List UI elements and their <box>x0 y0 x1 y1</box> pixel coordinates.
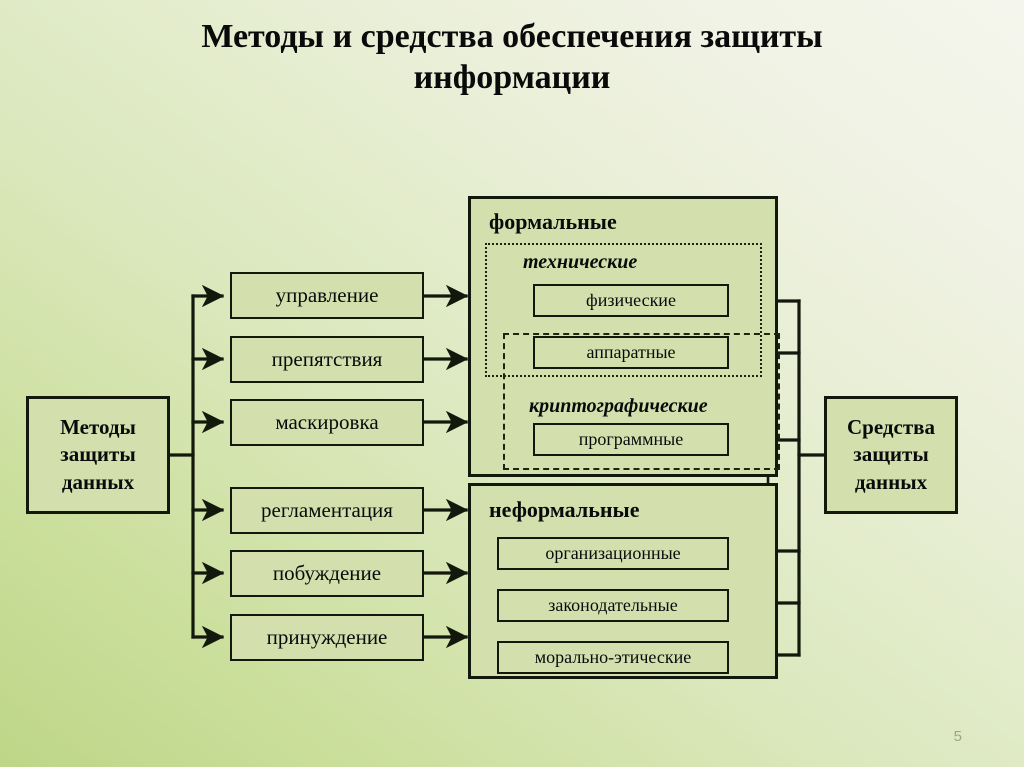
root-node-line-2: защиты <box>60 441 135 468</box>
method-box-prepyatstviya[interactable]: препятствия <box>230 336 424 383</box>
method-label: побуждение <box>273 561 381 586</box>
leaf-box-apparatnye[interactable]: аппаратные <box>533 336 729 369</box>
method-box-pobuzhdenie[interactable]: побуждение <box>230 550 424 597</box>
leaf-label: физические <box>586 290 676 311</box>
root-node-methods[interactable]: Методы защиты данных <box>26 396 170 514</box>
page-number: 5 <box>954 728 962 745</box>
method-label: принуждение <box>267 625 388 650</box>
method-label: препятствия <box>272 347 383 372</box>
root-node-line-3: данных <box>855 469 927 496</box>
method-box-reglamentaciya[interactable]: регламентация <box>230 487 424 534</box>
group-informal-title: неформальные <box>489 497 639 523</box>
leaf-box-zakonodatelnye[interactable]: законодательные <box>497 589 729 622</box>
subgroup-technical-title: технические <box>523 251 637 274</box>
page-title-line-1: Методы и средства обеспечения защиты <box>40 16 984 57</box>
page-title-line-2: информации <box>40 57 984 98</box>
leaf-label: аппаратные <box>586 342 675 363</box>
leaf-label: организационные <box>545 543 680 564</box>
subgroup-cryptographic-title: криптографические <box>529 395 708 418</box>
group-informal[interactable]: неформальные организационные законодател… <box>468 483 778 679</box>
method-label: управление <box>276 283 379 308</box>
group-formal-title: формальные <box>489 209 617 235</box>
page-title: Методы и средства обеспечения защиты инф… <box>40 16 984 99</box>
method-label: маскировка <box>275 410 378 435</box>
root-node-line-2: защиты <box>853 441 928 468</box>
leaf-box-moralno-eticheskie[interactable]: морально-этические <box>497 641 729 674</box>
method-box-upravlenie[interactable]: управление <box>230 272 424 319</box>
root-node-line-3: данных <box>62 469 134 496</box>
group-formal[interactable]: формальные технические криптографические… <box>468 196 778 477</box>
leaf-box-fizicheskie[interactable]: физические <box>533 284 729 317</box>
leaf-box-organizacionnye[interactable]: организационные <box>497 537 729 570</box>
root-node-line-1: Методы <box>60 414 136 441</box>
leaf-label: морально-этические <box>535 647 691 668</box>
slide-canvas: Методы и средства обеспечения защиты инф… <box>0 0 1024 767</box>
method-box-prinuzhdenie[interactable]: принуждение <box>230 614 424 661</box>
root-node-means[interactable]: Средства защиты данных <box>824 396 958 514</box>
method-box-maskirovka[interactable]: маскировка <box>230 399 424 446</box>
leaf-label: законодательные <box>548 595 678 616</box>
root-node-line-1: Средства <box>847 414 935 441</box>
method-label: регламентация <box>261 498 393 523</box>
leaf-box-programmnye[interactable]: программные <box>533 423 729 456</box>
leaf-label: программные <box>579 429 684 450</box>
